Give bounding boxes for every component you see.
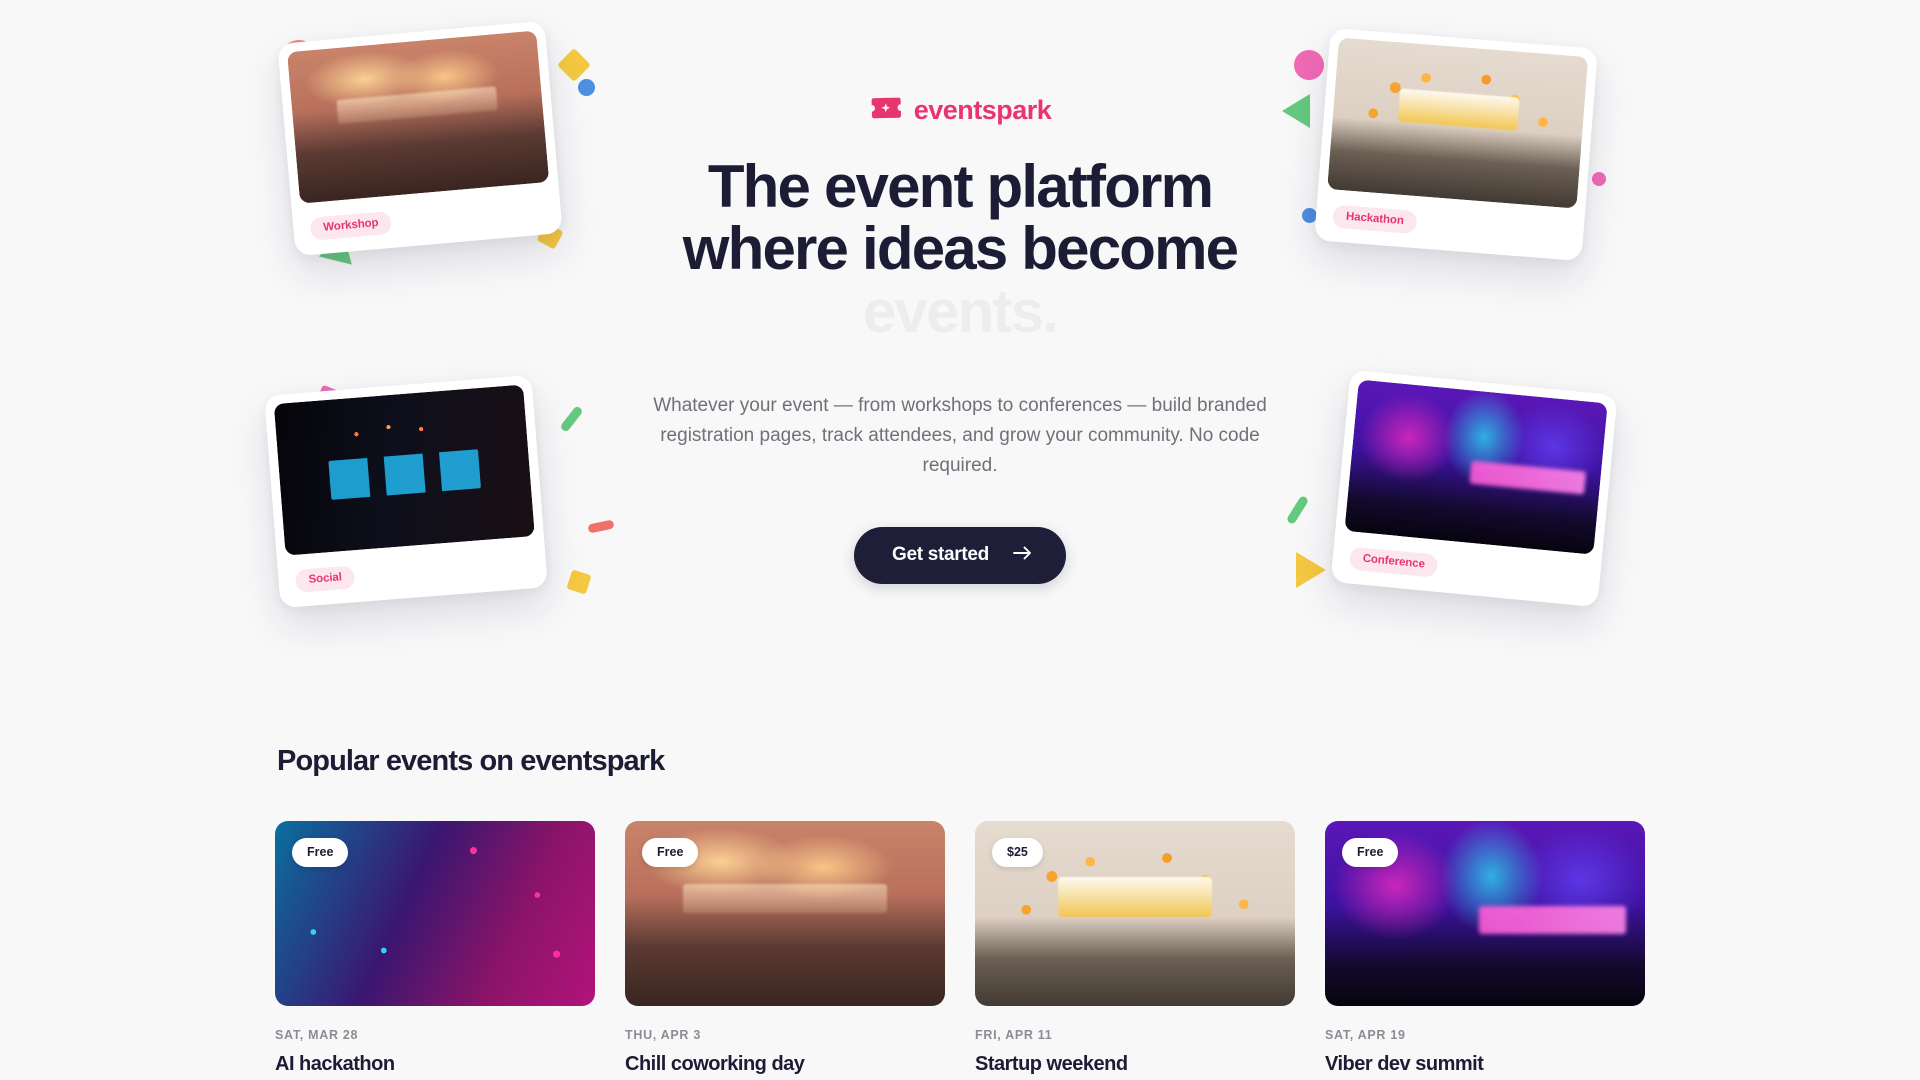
confetti-slash-green — [559, 405, 583, 433]
event-date: FRI, APR 11 — [975, 1028, 1295, 1042]
price-badge: Free — [642, 838, 698, 867]
hero-content: eventspark The event platform where idea… — [640, 95, 1280, 584]
event-thumbnail: Free — [275, 821, 595, 1006]
hero-subheadline: Whatever your event — from workshops to … — [640, 391, 1280, 481]
confetti-dot-pink-small — [1592, 172, 1606, 186]
price-badge: Free — [292, 838, 348, 867]
arrow-right-icon — [1013, 544, 1032, 566]
category-badge: Workshop — [309, 210, 392, 240]
float-card-workshop[interactable]: Workshop — [277, 21, 563, 257]
event-date: THU, APR 3 — [625, 1028, 945, 1042]
event-date: SAT, MAR 28 — [275, 1028, 595, 1042]
event-card[interactable]: Free THU, APR 3 Chill coworking day — [625, 821, 945, 1076]
price-badge: $25 — [992, 838, 1043, 867]
event-card[interactable]: $25 FRI, APR 11 Startup weekend — [975, 821, 1295, 1076]
event-title: Viber dev summit — [1325, 1053, 1645, 1076]
event-thumbnail: $25 — [975, 821, 1295, 1006]
float-card-conference[interactable]: Conference — [1330, 370, 1617, 608]
event-title: Chill coworking day — [625, 1053, 945, 1076]
get-started-label: Get started — [892, 544, 989, 566]
headline-line-1: The event platform — [640, 156, 1280, 218]
confetti-diamond-yellow — [557, 48, 591, 82]
float-card-image — [1344, 379, 1607, 554]
confetti-square-yellow-low — [566, 569, 591, 594]
float-card-social[interactable]: Social — [264, 375, 548, 608]
headline-line-3: events. — [640, 281, 1280, 343]
brand-logo[interactable]: eventspark — [640, 95, 1280, 126]
float-card-image — [287, 30, 549, 203]
event-thumbnail: Free — [1325, 821, 1645, 1006]
ticket-sparkle-icon — [869, 97, 903, 125]
category-badge: Social — [295, 565, 356, 593]
confetti-triangle-yellow-conf — [1296, 552, 1326, 588]
page-title: The event platform where ideas become ev… — [640, 156, 1280, 343]
confetti-slash-coral — [587, 519, 614, 533]
event-grid: Free SAT, MAR 28 AI hackathon Free THU, … — [275, 821, 1645, 1076]
category-badge: Conference — [1349, 546, 1439, 577]
cta-wrapper: Get started — [640, 527, 1280, 584]
brand-name: eventspark — [914, 95, 1052, 126]
event-thumbnail: Free — [625, 821, 945, 1006]
confetti-dot-blue — [578, 79, 595, 96]
get-started-button[interactable]: Get started — [854, 527, 1066, 584]
float-card-hackathon[interactable]: Hackathon — [1314, 28, 1598, 261]
event-date: SAT, APR 19 — [1325, 1028, 1645, 1042]
popular-events-section: Popular events on eventspark Free SAT, M… — [0, 745, 1920, 1076]
float-card-image — [1327, 37, 1588, 208]
event-title: AI hackathon — [275, 1053, 595, 1076]
event-title: Startup weekend — [975, 1053, 1295, 1076]
section-title: Popular events on eventspark — [275, 745, 1645, 778]
event-card[interactable]: Free SAT, MAR 28 AI hackathon — [275, 821, 595, 1076]
confetti-slash-green-conf — [1286, 495, 1310, 525]
event-card[interactable]: Free SAT, APR 19 Viber dev summit — [1325, 821, 1645, 1076]
confetti-dot-pink-large — [1294, 50, 1324, 80]
landing-page: Workshop Hackathon Social Conference — [0, 0, 1920, 1080]
headline-line-2: where ideas become — [640, 218, 1280, 280]
price-badge: Free — [1342, 838, 1398, 867]
hero-section: Workshop Hackathon Social Conference — [0, 0, 1920, 745]
float-card-image — [274, 384, 535, 555]
category-badge: Hackathon — [1332, 204, 1417, 234]
confetti-triangle-green-right — [1282, 94, 1310, 128]
